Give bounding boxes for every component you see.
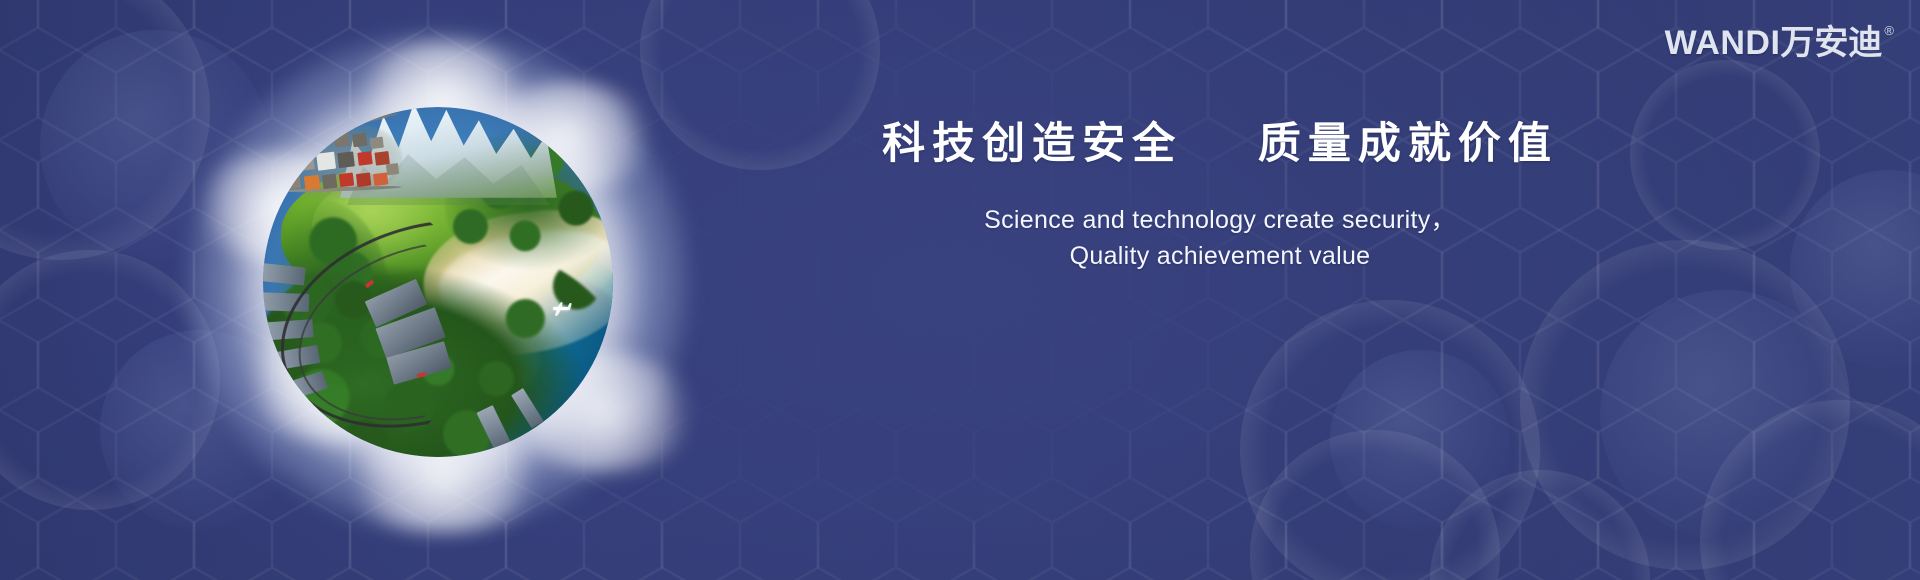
globe-illustration bbox=[178, 22, 698, 542]
village-house bbox=[356, 173, 371, 187]
subtitle-line-1: Science and technology create security， bbox=[760, 203, 1680, 239]
banner-text-block: 科技创造安全 质量成就价值 Science and technology cre… bbox=[760, 120, 1680, 274]
village-house bbox=[358, 151, 373, 165]
village-house bbox=[316, 152, 336, 171]
brand-logo[interactable]: WANDI 万安迪 ® bbox=[1665, 26, 1894, 60]
village-house bbox=[386, 163, 400, 175]
village-house bbox=[303, 175, 320, 190]
village-house bbox=[338, 152, 355, 168]
planet-village bbox=[263, 107, 423, 221]
tiny-planet bbox=[263, 107, 613, 457]
village-house bbox=[296, 154, 315, 171]
tiny-planet-surface bbox=[263, 107, 613, 457]
village-house bbox=[285, 139, 300, 152]
village-house bbox=[373, 173, 388, 186]
village-house bbox=[352, 133, 367, 147]
village-house bbox=[301, 133, 315, 145]
page-title: 科技创造安全 质量成就价值 bbox=[760, 120, 1680, 169]
village-house bbox=[339, 173, 354, 187]
logo-chinese-text: 万安迪 bbox=[1780, 26, 1882, 60]
village-house bbox=[316, 129, 331, 143]
village-house bbox=[370, 136, 384, 149]
village-house bbox=[286, 175, 301, 189]
subtitle-line-2: Quality achievement value bbox=[760, 239, 1680, 275]
village-house bbox=[322, 174, 337, 189]
subtitle: Science and technology create security， … bbox=[760, 203, 1680, 274]
airplane-icon bbox=[545, 300, 571, 318]
village-house bbox=[334, 131, 351, 147]
promotional-banner: 科技创造安全 质量成就价值 Science and technology cre… bbox=[0, 0, 1920, 580]
registered-trademark-icon: ® bbox=[1884, 24, 1894, 37]
village-house bbox=[281, 159, 295, 171]
logo-latin-text: WANDI bbox=[1665, 26, 1781, 60]
